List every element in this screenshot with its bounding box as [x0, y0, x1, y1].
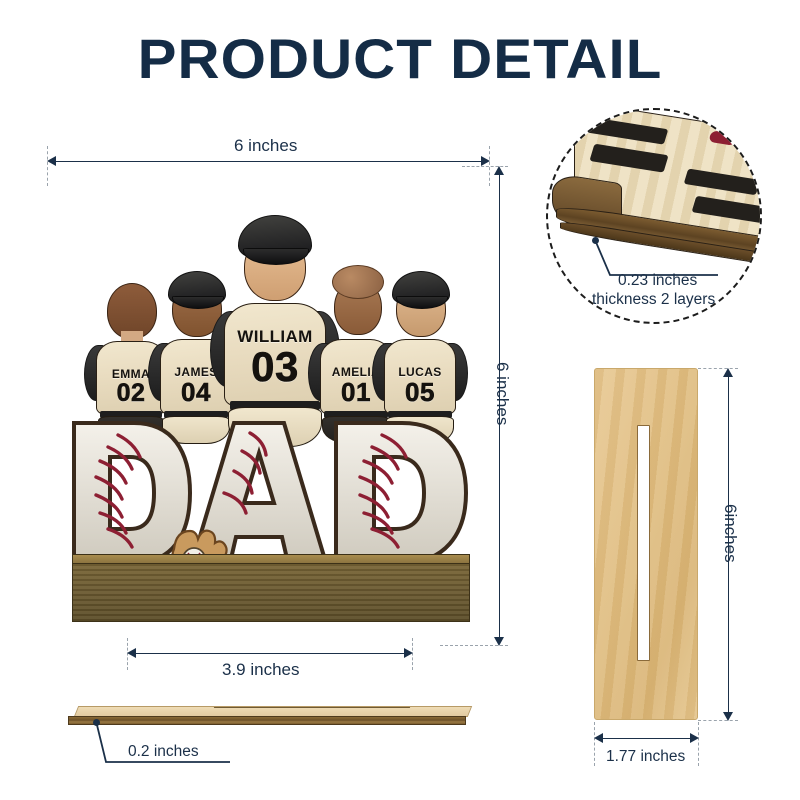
- william-cap: [238, 215, 312, 259]
- arrow-tip-right: [404, 648, 413, 658]
- panel-width-arrow: [594, 733, 699, 743]
- right-height-label: 6 inches: [492, 362, 512, 425]
- plate-thickness-label: 0.2 inches: [128, 743, 199, 761]
- panel-slot: [637, 425, 650, 661]
- base-width-arrow: [127, 648, 413, 658]
- top-width-label: 6 inches: [234, 136, 297, 156]
- arrow-shaft: [599, 738, 694, 739]
- arrow-shaft: [132, 653, 408, 654]
- plate-leader-line: [60, 700, 280, 780]
- arrow-tip-bottom: [494, 637, 504, 646]
- arrow-tip-bottom: [723, 712, 733, 721]
- arrow-tip-right: [690, 733, 699, 743]
- product-detail-infographic: PRODUCT DETAIL 6 inches 6 inches EMMA 02: [0, 0, 800, 800]
- plywood-stand-panel: [594, 368, 698, 720]
- base-width-label: 3.9 inches: [222, 660, 300, 680]
- dad-word-letters: [64, 417, 476, 569]
- page-title: PRODUCT DETAIL: [0, 26, 800, 91]
- thickness-label-line1: 0.23 inches: [618, 272, 697, 290]
- panel-width-extension-right: [698, 722, 699, 766]
- arrow-shaft: [52, 161, 485, 162]
- wooden-base-stand: [72, 560, 470, 622]
- thickness-label-line2: thickness 2 layers: [592, 291, 715, 309]
- panel-height-label: 6inches: [720, 504, 740, 563]
- panel-width-extension-left: [594, 722, 595, 766]
- letter-d-right: [326, 417, 474, 569]
- panel-width-label: 1.77 inches: [606, 748, 685, 766]
- top-width-arrow: [47, 156, 490, 166]
- arrow-tip-right: [481, 156, 490, 166]
- top-dim-extension-left: [47, 146, 48, 186]
- lucas-cap: [392, 271, 450, 305]
- product-artwork: EMMA 02 JAMES 04: [60, 195, 480, 635]
- lucas-jersey-number: 05: [384, 377, 456, 408]
